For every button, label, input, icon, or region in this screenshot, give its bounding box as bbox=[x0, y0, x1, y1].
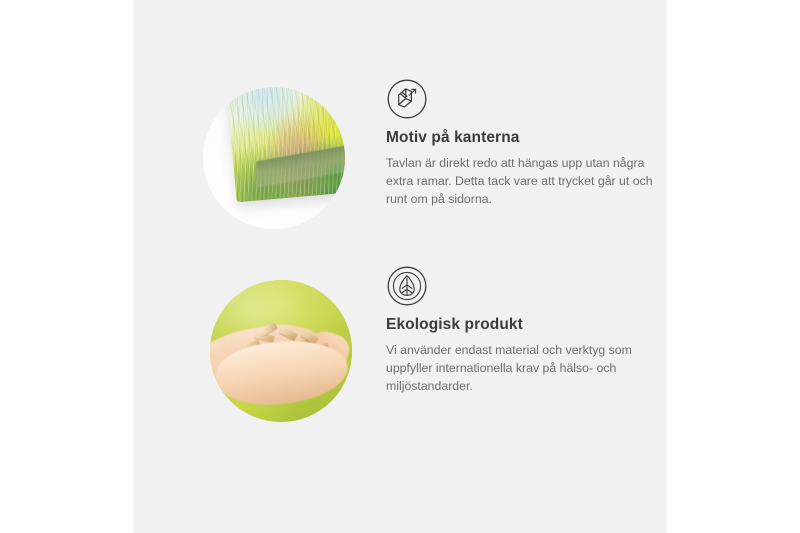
feature-description: Vi använder endast material och verktyg … bbox=[386, 341, 654, 396]
feature-title: Motiv på kanterna bbox=[386, 129, 658, 148]
canvas-artwork bbox=[226, 87, 345, 202]
leaf-icon bbox=[386, 265, 428, 307]
feature-description: Tavlan är direkt redo att hängas upp uta… bbox=[386, 154, 654, 209]
feature-text-canvas-edges: Motiv på kanterna Tavlan är direkt redo … bbox=[386, 78, 658, 209]
canvas-edge-wrap-icon bbox=[386, 78, 428, 120]
wood-chip bbox=[262, 323, 278, 336]
canvas-print-object bbox=[226, 87, 345, 202]
feature-block-eco-product: Ekologisk produkt Vi använder endast mat… bbox=[133, 265, 667, 445]
canvas-print-photo bbox=[203, 87, 345, 229]
content-panel: Motiv på kanterna Tavlan är direkt redo … bbox=[133, 0, 667, 533]
wood-chips-photo bbox=[210, 280, 352, 422]
feature-block-canvas-edges: Motiv på kanterna Tavlan är direkt redo … bbox=[133, 78, 667, 258]
product-feature-banner: Motiv på kanterna Tavlan är direkt redo … bbox=[0, 0, 800, 533]
feature-title: Ekologisk produkt bbox=[386, 316, 658, 335]
feature-text-eco-product: Ekologisk produkt Vi använder endast mat… bbox=[386, 265, 658, 396]
wood-chip bbox=[279, 327, 297, 341]
